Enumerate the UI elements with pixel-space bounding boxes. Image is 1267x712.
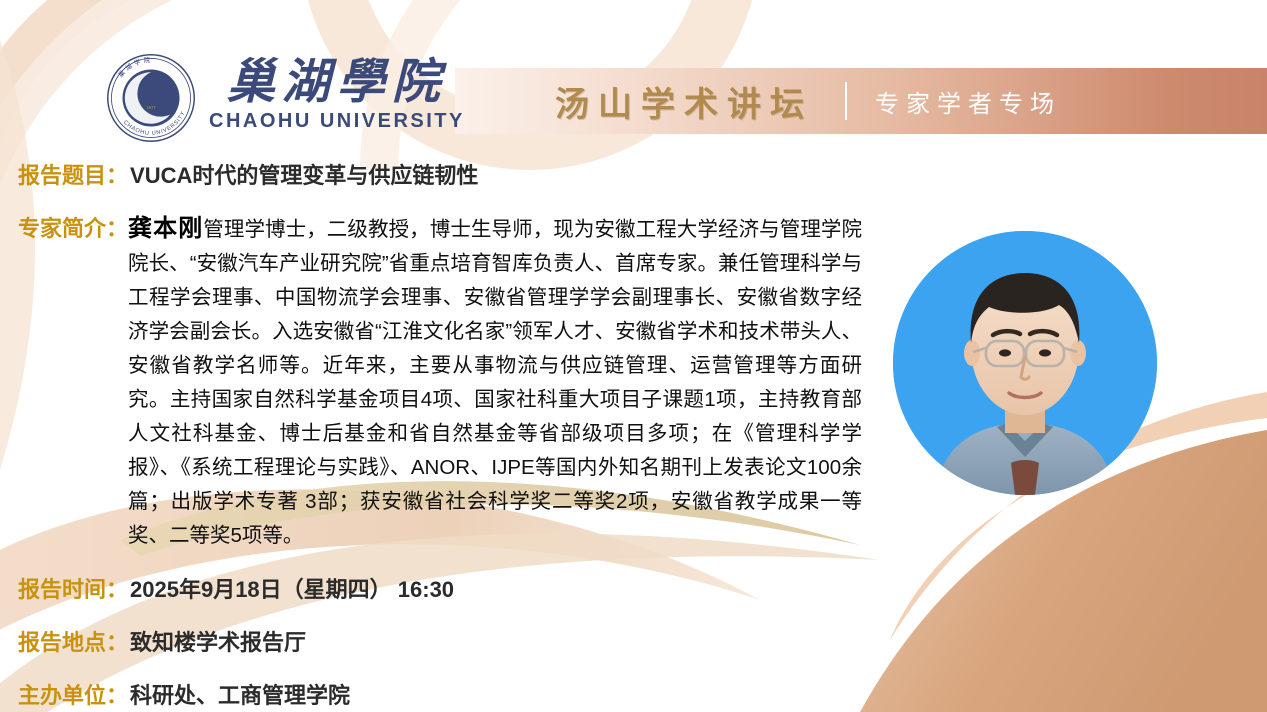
report-host-row: 主办单位： 科研处、工商管理学院 xyxy=(18,678,350,710)
report-place-label: 报告地点： xyxy=(18,625,128,657)
speaker-portrait xyxy=(893,231,1157,495)
report-host-value: 科研处、工商管理学院 xyxy=(130,678,350,710)
banner-band: 汤山学术讲坛 专家学者专场 xyxy=(455,68,1267,134)
university-seal-icon: CHAOHU UNIVERSITY 巢湖学院 1977 xyxy=(105,52,197,144)
report-title-row: 报告题目： VUCA时代的管理变革与供应链韧性 xyxy=(18,158,478,190)
speaker-bio-paragraph: 管理学博士，二级教授，博士生导师，现为安徽工程大学经济与管理学院院长、“安徽汽车… xyxy=(128,218,862,547)
report-time-row: 报告时间： 2025年9月18日（星期四） 16:30 xyxy=(18,572,454,604)
banner-subtitle: 专家学者专场 xyxy=(875,84,1061,119)
speaker-bio-text: 龚本刚管理学博士，二级教授，博士生导师，现为安徽工程大学经济与管理学院院长、“安… xyxy=(128,212,862,553)
banner-title: 汤山学术讲坛 xyxy=(555,77,813,126)
report-title-value: VUCA时代的管理变革与供应链韧性 xyxy=(130,158,478,190)
speaker-bio-label: 专家简介： xyxy=(18,212,128,246)
report-time-label: 报告时间： xyxy=(18,572,128,604)
university-logo: CHAOHU UNIVERSITY 巢湖学院 1977 巢湖學院 CHAOHU … xyxy=(105,52,465,144)
university-name-en: CHAOHU UNIVERSITY xyxy=(209,110,465,133)
speaker-bio-block: 专家简介： 龚本刚管理学博士，二级教授，博士生导师，现为安徽工程大学经济与管理学… xyxy=(18,212,888,553)
report-place-row: 报告地点： 致知楼学术报告厅 xyxy=(18,625,306,657)
banner-divider xyxy=(845,82,847,120)
speaker-name: 龚本刚 xyxy=(128,215,203,242)
report-place-value: 致知楼学术报告厅 xyxy=(130,625,306,657)
seminar-poster: 汤山学术讲坛 专家学者专场 CHAOHU UNIVERSITY 巢湖学院 197… xyxy=(0,0,1267,712)
report-host-label: 主办单位： xyxy=(18,678,128,710)
university-name-cn: 巢湖學院 xyxy=(227,58,447,108)
report-title-label: 报告题目： xyxy=(18,158,128,190)
speaker-photo-illustration xyxy=(893,231,1157,495)
report-time-value: 2025年9月18日（星期四） 16:30 xyxy=(130,572,454,604)
svg-text:1977: 1977 xyxy=(146,105,156,110)
